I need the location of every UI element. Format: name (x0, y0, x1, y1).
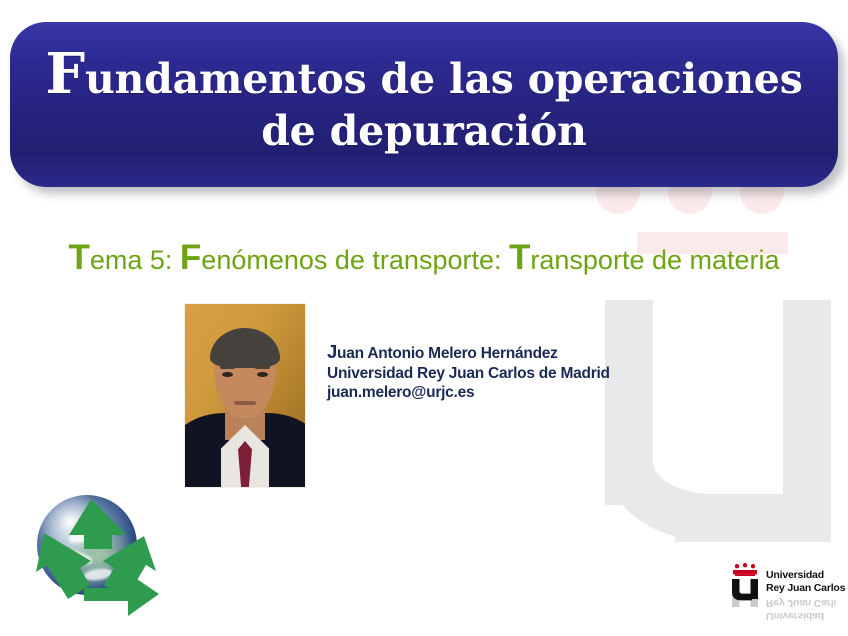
watermark-u-right-stem (783, 300, 831, 542)
portrait-mouth (234, 401, 256, 405)
urjc-logo: Universidad Rey Juan Carlos Universidad … (728, 563, 836, 625)
author-name: Juan Antonio Melero Hernández (327, 344, 610, 364)
portrait-eyebrow-left (220, 366, 235, 369)
portrait-eye-right (257, 372, 268, 377)
author-name-rest: uan Antonio Melero Hernández (337, 345, 558, 362)
urjc-reflection-line1: Universidad (766, 610, 836, 623)
urjc-crown-and-u-icon (728, 563, 762, 601)
subtitle-segment-2: enómenos de transporte: (201, 245, 509, 275)
urjc-logo-line2: Rey Juan Carlos (766, 582, 845, 595)
portrait-hair (210, 328, 280, 368)
slide-title-line1: undamentos de las operaciones (85, 55, 803, 103)
subtitle-segment-1: ema 5: (90, 245, 180, 275)
watermark-u-bowl (605, 396, 783, 542)
urjc-reflection-mark-icon (728, 597, 762, 623)
watermark-u-bowl-floor (675, 494, 805, 542)
author-email: juan.melero@urjc.es (327, 383, 610, 403)
author-affiliation: Universidad Rey Juan Carlos de Madrid (327, 364, 610, 384)
subtitle-initial-t1: T (68, 238, 89, 277)
slide-title-banner: Fundamentos de las operaciones de depura… (10, 22, 838, 187)
slide-title: Fundamentos de las operaciones de depura… (19, 52, 828, 157)
portrait-eyebrow-right (255, 366, 270, 369)
subtitle-initial-t2: T (509, 238, 530, 277)
watermark-letter-u (605, 300, 831, 542)
slide-title-initial-f: F (45, 41, 85, 107)
urjc-logo-line1: Universidad (766, 569, 845, 582)
subtitle-initial-f: F (180, 238, 201, 277)
author-portrait-photo (184, 303, 306, 488)
author-details: Juan Antonio Melero Hernández Universida… (327, 344, 610, 403)
urjc-logo-text: Universidad Rey Juan Carlos (766, 569, 845, 594)
urjc-reflection-text: Universidad Rey Juan Carlos (766, 597, 836, 622)
portrait-eye-left (222, 372, 233, 377)
author-name-initial-j: J (327, 341, 337, 362)
slide-title-line2: de depuración (45, 105, 802, 157)
subtitle-segment-3: ransporte de materia (530, 245, 779, 275)
urjc-reflection-line2: Rey Juan Carlos (766, 597, 836, 610)
recycle-arrows-icon (28, 489, 168, 629)
urjc-logo-reflection: Universidad Rey Juan Carlos (728, 597, 836, 623)
slide-subtitle: Tema 5: Fenómenos de transporte: Transpo… (0, 240, 848, 275)
recycling-earth-emblem (28, 489, 168, 629)
presentation-slide: Fundamentos de las operaciones de depura… (0, 0, 848, 636)
watermark-u-left-stem (605, 300, 653, 505)
